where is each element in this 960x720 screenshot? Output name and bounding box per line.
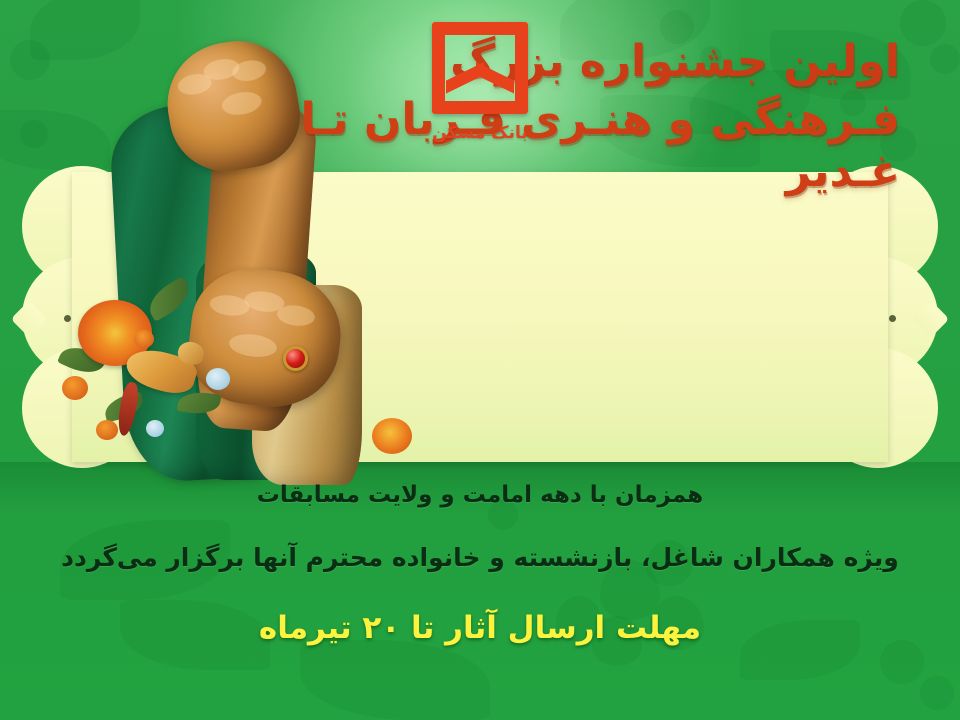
title-banner-panel bbox=[22, 172, 938, 462]
festival-title-line2: فـرهنگی و هنـری قـربان تـا غـدیر bbox=[260, 94, 900, 198]
poster-copy: همزمان با دهه امامت و ولایت مسابقات ویژه… bbox=[0, 478, 960, 646]
copy-line-1: همزمان با دهه امامت و ولایت مسابقات bbox=[40, 478, 920, 513]
panel-accent-dot bbox=[64, 315, 71, 322]
festival-poster: بانک مسکن bbox=[0, 0, 960, 720]
festival-title-line1: اولین جشنواره بزرگ bbox=[260, 36, 900, 88]
bank-name: بانک مسکن bbox=[380, 123, 580, 143]
copy-line-2: ویژه همکاران شاغل، بازنشسته و خانواده مح… bbox=[40, 539, 920, 577]
festival-title: اولین جشنواره بزرگ فـرهنگی و هنـری قـربا… bbox=[260, 36, 900, 198]
panel-accent-dot bbox=[889, 315, 896, 322]
panel-body bbox=[72, 172, 888, 462]
submission-deadline: مهلت ارسال آثار تا ۲۰ تیرماه bbox=[40, 610, 920, 646]
logo-chevron-icon bbox=[446, 62, 514, 88]
bank-maskan-roof-logo-icon bbox=[432, 22, 528, 114]
bank-logo-block: بانک مسکن bbox=[380, 22, 580, 143]
